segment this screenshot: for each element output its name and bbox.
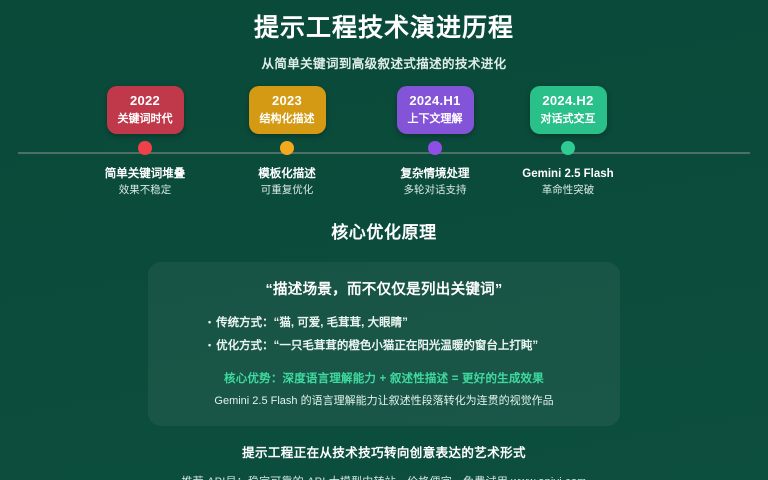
timeline-label-primary: 简单关键词堆叠 [75,166,215,183]
timeline-label-primary: 复杂情境处理 [365,166,505,183]
timeline-badge-tag: 结构化描述 [260,113,315,127]
timeline-label-secondary: 效果不稳定 [75,183,215,199]
timeline-dot [561,141,575,155]
timeline-badge-tag: 上下文理解 [408,113,463,127]
timeline-badge-year: 2023 [260,93,315,109]
timeline-item-2024h2[interactable]: 2024.H2 对话式交互 Gemini 2.5 Flash 革命性突破 [498,86,638,198]
timeline-badge-year: 2024.H2 [541,93,596,109]
timeline-badge[interactable]: 2022 关键词时代 [107,86,184,134]
timeline-label: 模板化描述 可重复优化 [217,166,357,198]
timeline-label: Gemini 2.5 Flash 革命性突破 [498,166,638,198]
core-principles-panel: “描述场景，而不仅仅是列出关键词” •传统方式：“猫, 可爱, 毛茸茸, 大眼睛… [148,262,620,425]
timeline-badge-tag: 对话式交互 [541,113,596,127]
bullet-text: 传统方式：“猫, 可爱, 毛茸茸, 大眼睛” [216,317,408,329]
timeline-item-2023[interactable]: 2023 结构化描述 模板化描述 可重复优化 [217,86,357,198]
timeline-dot [138,141,152,155]
timeline-label: 简单关键词堆叠 效果不稳定 [75,166,215,198]
timeline-label-secondary: 多轮对话支持 [365,183,505,199]
timeline-dot [428,141,442,155]
timeline-label-secondary: 革命性突破 [498,183,638,199]
timeline-badge-tag: 关键词时代 [118,113,173,127]
page-footer: 提示工程正在从技术技巧转向创意表达的艺术形式 推荐 API易：稳定可靠的 API… [0,442,768,480]
bullet-dot-icon: • [208,340,211,350]
timeline: 2022 关键词时代 简单关键词堆叠 效果不稳定 2023 结构化描述 模板化描… [0,86,768,196]
core-advantage-text: 核心优势：深度语言理解能力 + 叙述性描述 = 更好的生成效果 [170,370,598,386]
bullet-dot-icon: • [208,317,211,327]
core-bullet-list: •传统方式：“猫, 可爱, 毛茸茸, 大眼睛” •优化方式：“一只毛茸茸的橙色小… [208,312,598,357]
timeline-label-primary: 模板化描述 [217,166,357,183]
timeline-badge[interactable]: 2023 结构化描述 [249,86,326,134]
core-section-heading: 核心优化原理 [0,218,768,243]
core-advantage-subtext: Gemini 2.5 Flash 的语言理解能力让叙述性段落转化为连贯的视觉作品 [170,393,598,410]
timeline-label-secondary: 可重复优化 [217,183,357,199]
timeline-item-2024h1[interactable]: 2024.H1 上下文理解 复杂情境处理 多轮对话支持 [365,86,505,198]
footer-promo: 推荐 API易：稳定可靠的 API 大模型中转站，价格便宜、免费试用 www.a… [0,473,768,480]
timeline-badge[interactable]: 2024.H2 对话式交互 [530,86,607,134]
timeline-label-primary: Gemini 2.5 Flash [498,166,638,183]
page-title: 提示工程技术演进历程 [0,13,768,44]
timeline-badge[interactable]: 2024.H1 上下文理解 [397,86,474,134]
page-header: 提示工程技术演进历程 从简单关键词到高级叙述式描述的技术进化 [0,0,768,72]
bullet-text: 优化方式：“一只毛茸茸的橙色小猫正在阳光温暖的窗台上打盹” [216,340,538,352]
core-quote: “描述场景，而不仅仅是列出关键词” [170,278,598,299]
timeline-label: 复杂情境处理 多轮对话支持 [365,166,505,198]
list-item: •传统方式：“猫, 可爱, 毛茸茸, 大眼睛” [208,312,598,334]
timeline-badge-year: 2024.H1 [408,93,463,109]
page-subtitle: 从简单关键词到高级叙述式描述的技术进化 [0,53,768,72]
footer-tagline: 提示工程正在从技术技巧转向创意表达的艺术形式 [0,442,768,461]
timeline-dot [280,141,294,155]
list-item: •优化方式：“一只毛茸茸的橙色小猫正在阳光温暖的窗台上打盹” [208,335,598,357]
timeline-item-2022[interactable]: 2022 关键词时代 简单关键词堆叠 效果不稳定 [75,86,215,198]
timeline-badge-year: 2022 [118,93,173,109]
